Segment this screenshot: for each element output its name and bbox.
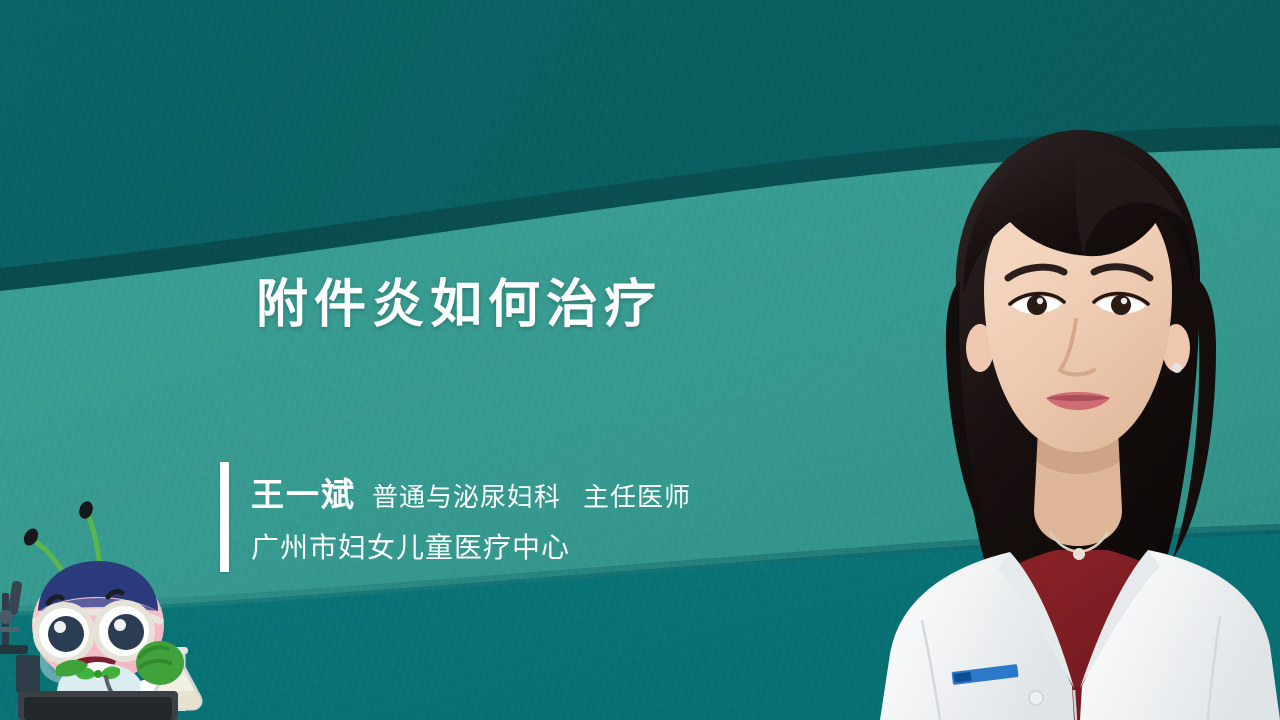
mascot-illustration	[0, 485, 215, 720]
page-title: 附件炎如何治疗	[256, 276, 662, 334]
glove-icon	[136, 641, 184, 685]
doctor-portrait-illustration	[860, 80, 1280, 720]
doctor-name: 王一斌	[251, 468, 356, 516]
doctor-credit-block: 王一斌 普通与泌尿妇科 主任医师 广州市妇女儿童医疗中心	[220, 462, 691, 572]
doctor-primary-line: 王一斌 普通与泌尿妇科 主任医师	[251, 468, 691, 516]
mascot-scientist	[0, 485, 215, 720]
doctor-department: 普通与泌尿妇科	[372, 477, 561, 514]
doctor-text-group: 王一斌 普通与泌尿妇科 主任医师 广州市妇女儿童医疗中心	[251, 462, 691, 572]
doctor-title: 主任医师	[583, 477, 691, 514]
accent-bar	[220, 462, 229, 572]
monitor-icon	[18, 691, 178, 720]
title-card: 附件炎如何治疗 王一斌 普通与泌尿妇科 主任医师 广州市妇女儿童医疗中心	[0, 0, 1280, 720]
doctor-hospital: 广州市妇女儿童医疗中心	[251, 526, 691, 566]
doctor-portrait	[860, 80, 1280, 720]
